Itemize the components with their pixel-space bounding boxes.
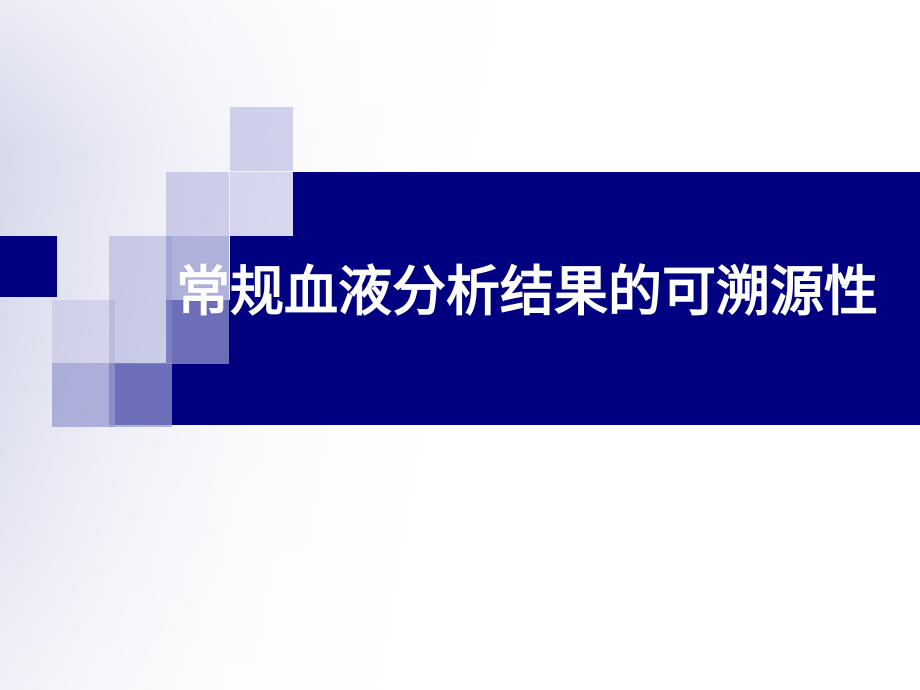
slide-title: 常规血液分析结果的可溯源性 — [176, 263, 878, 321]
title-block: 常规血液分析结果的可溯源性 — [176, 252, 920, 332]
navy-accent-chip — [0, 236, 57, 297]
decor-square-r3-c3 — [109, 236, 172, 300]
decor-square-r4-c2 — [52, 300, 115, 364]
decor-square-r5-c2 — [52, 363, 115, 427]
decor-square-r2-c4 — [166, 172, 229, 236]
slide-canvas: 常规血液分析结果的可溯源性 — [0, 0, 920, 690]
decor-square-r5-c3 — [109, 363, 172, 427]
decor-square-r1-c5 — [230, 107, 293, 171]
decor-square-r2-c5 — [230, 172, 293, 236]
decor-square-r4-c3 — [109, 300, 172, 364]
